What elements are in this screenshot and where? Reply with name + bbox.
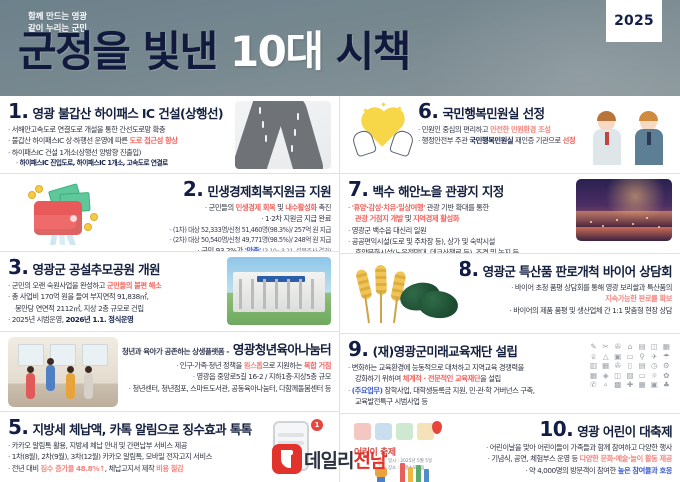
education-glyph-icon: ✚ xyxy=(624,381,635,389)
bullet-b: 변화하는 교육환경에 능동적으로 대처하고 지역교육 경쟁력을 xyxy=(348,362,586,373)
education-glyph-icon: ◈ xyxy=(600,372,611,380)
item-10-title: 영광 어린이 대축제 xyxy=(577,425,672,439)
bullet-b: 군민 93.2%가 '만족' (3.10~3.21. 설문조사 결과) xyxy=(116,245,331,252)
children-playroom-photo xyxy=(8,337,118,407)
festival-poster-title: 어린이 축제 xyxy=(354,445,396,458)
item-card-6: 6. 국민행복민원실 선정 민원인 중심의 편리하고 안전한 민원환경 조성행정… xyxy=(340,96,680,174)
education-glyph-icon: △ xyxy=(600,353,611,361)
item-3-text: 3. 영광군 공설추모공원 개원 군민의 오랜 숙원사업을 완성하고 군민들의 … xyxy=(8,257,227,326)
items-grid: 1. 영광 불갑산 하이패스 IC 건설(상행선) 서해안고속도로 연결도로 개… xyxy=(0,96,680,482)
item-7-title: 백수 해안노을 관광지 지정 xyxy=(373,185,504,199)
education-glyph-icon: ▥ xyxy=(588,362,599,370)
bullet-b: 기념식, 공연, 체험부스 운영 등 다양한 문화·예술·놀이 활동 제공 xyxy=(456,453,672,464)
bullet-sub: (2차) 대상 50,540명/신청 49,771명(98.5%)/ 248억 … xyxy=(116,235,331,245)
item-9-title-row: 9. (재)영광군미래교육재단 설립 xyxy=(348,339,586,359)
item-6-title: 국민행복민원실 선정 xyxy=(443,107,545,121)
memorial-park-building-photo xyxy=(227,257,331,325)
education-glyph-icon: ◫ xyxy=(612,372,623,380)
bullet-b: 군민들의 민생경제 회복 및 내수활성화 촉진 xyxy=(116,202,331,213)
heart-hands-illustration xyxy=(348,101,418,163)
item-1-bullets: 서해안고속도로 연결도로 개설을 통한 간선도로망 확충불갑산 하이패스IC 상… xyxy=(8,124,235,168)
bullet-b: 바이어의 제품 품평 및 생산업체 간 1:1 맞춤형 현장 상담 xyxy=(460,305,672,316)
bullet-b: 전년 대비 징수 증가율 48.8%↑, 체납고지서 제작 비용 절감 xyxy=(8,463,261,474)
bullet-b: '휴양·감성·치유·일상여행' 관광 기반 확대를 통한 xyxy=(348,202,576,213)
bullet-b: 2025년 시범운영, 2026년 1.1. 정식운영 xyxy=(8,314,227,325)
bullet-b: 인구·가족·청년 정책을 원스톱으로 지원하는 복합 거점 xyxy=(118,360,331,371)
item-5-text: 5. 지방세 체납액, 카톡 알림으로 징수효과 톡톡 카카오 알림톡 활용, … xyxy=(8,417,261,477)
education-icon-grid: ✎✂✇⌂▤◫▦♕△▣▭⚲✈☂▥▦✇▯▤◷⚙▦◈◫▨▭☼✿✆⌕▩✚▦▣♣ xyxy=(586,339,672,405)
highway-interchange-illustration xyxy=(235,101,331,169)
bullet-b: (주요업무) 장학사업, 대학생등록금 지원, 민·관·학 거버넌스 구축, xyxy=(348,385,586,396)
bullet-b: 어린이날을 맞아 어린이들이 가족들과 함께 참여하고 다양한 행사 xyxy=(456,442,672,453)
bullet-cont: 봉안당 연면적 2112㎡, 지상 2층 규모로 건립 xyxy=(8,303,227,314)
icon-grid: ✎✂✇⌂▤◫▦♕△▣▭⚲✈☂▥▦✇▯▤◷⚙▦◈◫▨▭☼✿✆⌕▩✚▦▣♣ xyxy=(588,343,672,389)
bullet-b: 서해안고속도로 연결도로 개설을 통한 간선도로망 확충 xyxy=(8,124,235,135)
item-card-8: 8. 영광군 특산품 판로개척 바이어 상담회 바이어 초청 품평 상담회를 통… xyxy=(340,254,680,334)
barley-and-laver-illustration xyxy=(348,259,460,329)
bullet-b: 약 4,000명의 방문객이 참여한 높은 참여율과 호응 xyxy=(456,465,672,476)
item-8-title: 영광군 특산품 판로개척 바이어 상담회 xyxy=(483,265,672,279)
child-figure xyxy=(374,459,388,482)
item-card-10: 어린이 축제 일시 : 2025년 5월 5일장소 : 영광스포티움 10. xyxy=(340,414,680,482)
education-glyph-icon: ✂ xyxy=(600,343,611,351)
item-2-number: 2. xyxy=(183,179,204,199)
item-4-title-row: 4. 청년과 육아가 공존하는 상생플랫폼 - 영광청년육아나눔터 xyxy=(118,337,331,357)
bullet-b: 불갑산 하이패스IC 상·하행선 운영에 따른 도로 접근성 향상 xyxy=(8,135,235,146)
education-glyph-icon: ▦ xyxy=(637,381,648,389)
item-6-bullets: 민원인 중심의 편리하고 안전한 민원환경 조성행정안전부 주관 국민행복민원실… xyxy=(418,124,588,147)
education-glyph-icon: ☂ xyxy=(661,353,672,361)
item-4-title: 영광청년육아나눔터 xyxy=(233,343,331,357)
title-part-1: 군정을 빛낸 xyxy=(18,27,217,76)
item-3-title: 영광군 공설추모공원 개원 xyxy=(33,263,160,277)
education-glyph-icon: ⌕ xyxy=(600,381,611,389)
title-part-2: 10대 xyxy=(230,27,323,76)
column-right: 6. 국민행복민원실 선정 민원인 중심의 편리하고 안전한 민원환경 조성행정… xyxy=(340,96,680,482)
item-1-number: 1. xyxy=(8,101,29,121)
item-7-bullets: '휴양·감성·치유·일상여행' 관광 기반 확대를 통한관광 거점지 개발 및 … xyxy=(348,202,576,254)
education-glyph-icon: ♣ xyxy=(661,381,672,389)
education-glyph-icon: ▤ xyxy=(637,362,648,370)
item-10-text: 10. 영광 어린이 대축제 어린이날을 맞아 어린이들이 가족들과 함께 참여… xyxy=(456,419,672,477)
education-glyph-icon: ▭ xyxy=(637,372,648,380)
education-glyph-icon: ▯ xyxy=(624,362,635,370)
item-10-number: 10. xyxy=(539,419,573,439)
item-8-bullets: 바이어 초청 품평 상담회를 통해 영광 보리쌀과 특산품의지속가능한 판로를 … xyxy=(460,282,672,316)
item-4-bullets: 인구·가족·청년 정책을 원스톱으로 지원하는 복합 거점영광읍 중앙로5길 1… xyxy=(118,360,331,394)
education-glyph-icon: ✎ xyxy=(588,343,599,351)
education-glyph-icon: ▦ xyxy=(588,372,599,380)
education-glyph-icon: ♕ xyxy=(588,353,599,361)
item-7-number: 7. xyxy=(348,179,369,199)
item-card-5: 5. 지방세 체납액, 카톡 알림으로 징수효과 톡톡 카카오 알림톡 활용, … xyxy=(0,412,339,482)
education-glyph-icon: ▩ xyxy=(612,381,623,389)
item-8-number: 8. xyxy=(458,259,479,279)
item-5-bullets: 카카오 알림톡 활용, 지방세 체납 안내 및 간편납부 서비스 제공1차(8월… xyxy=(8,440,261,474)
item-7-text: 7. 백수 해안노을 관광지 지정 '휴양·감성·치유·일상여행' 관광 기반 … xyxy=(348,179,576,248)
education-glyph-icon: ◷ xyxy=(649,362,660,370)
bullet-b: 민원인 중심의 편리하고 안전한 민원환경 조성 xyxy=(418,124,588,135)
childrens-festival-poster: 어린이 축제 일시 : 2025년 5월 5일장소 : 영광스포티움 xyxy=(348,419,456,482)
poster-header: 함께 만드는 영광 같이 누리는 군민 군정을 빛낸 10대 시책 2025 xyxy=(0,0,680,96)
item-card-1: 1. 영광 불갑산 하이패스 IC 건설(상행선) 서해안고속도로 연결도로 개… xyxy=(0,96,339,174)
item-9-title: (재)영광군미래교육재단 설립 xyxy=(373,345,518,359)
kakao-notification-phone-illustration: 1 xyxy=(261,417,331,475)
bullet-b: 하이패스IC 건설 1개소(상행선 양방향 진출입) xyxy=(8,147,235,158)
item-1-text: 1. 영광 불갑산 하이패스 IC 건설(상행선) 서해안고속도로 연결도로 개… xyxy=(8,101,235,168)
item-5-title-row: 5. 지방세 체납액, 카톡 알림으로 징수효과 톡톡 xyxy=(8,417,261,437)
education-glyph-icon: ▣ xyxy=(649,381,660,389)
item-9-bullets: 변화하는 교육환경에 능동적으로 대처하고 지역교육 경쟁력을강화하기 위하여 … xyxy=(348,362,586,407)
item-9-number: 9. xyxy=(348,339,369,359)
wallet-cash-illustration xyxy=(8,179,116,247)
bullet-b: 청년센터, 청년점포, 스마트도서관, 공동육아나눔터, 다함께돌봄센터 등 xyxy=(118,383,331,394)
education-glyph-icon: ✈ xyxy=(649,353,660,361)
item-6-number: 6. xyxy=(418,101,439,121)
bullet-b: 총 사업비 170억 원을 들여 부지면적 91,838㎡, xyxy=(8,291,227,302)
item-3-title-row: 3. 영광군 공설추모공원 개원 xyxy=(8,257,227,277)
bullet-cont: 강화하기 위하여 체계적 · 전문적인 교육재단을 설립 xyxy=(348,373,586,384)
bullet-b: 1·2차 지원금 지급 완료 xyxy=(116,213,331,224)
item-3-number: 3. xyxy=(8,257,29,277)
item-3-bullets: 군민의 오랜 숙원사업을 완성하고 군민들의 불편 해소총 사업비 170억 원… xyxy=(8,280,227,325)
notification-badge: 1 xyxy=(311,419,323,431)
item-8-title-row: 8. 영광군 특산품 판로개척 바이어 상담회 xyxy=(460,259,672,279)
bullet-cont: 관광 거점지 개발 및 지역경제 활성화 xyxy=(348,213,576,224)
education-glyph-icon: ⌂ xyxy=(624,343,635,351)
item-6-text: 6. 국민행복민원실 선정 민원인 중심의 편리하고 안전한 민원환경 조성행정… xyxy=(418,101,588,168)
public-officials-illustration xyxy=(588,101,672,165)
bullet-b: 영광읍 중앙로5길 16-2 / 지하1층·지상5층 규모 xyxy=(118,371,331,382)
education-glyph-icon: ⚲ xyxy=(637,353,648,361)
education-glyph-icon: ☼ xyxy=(649,372,660,380)
item-card-3: 3. 영광군 공설추모공원 개원 군민의 오랜 숙원사업을 완성하고 군민들의 … xyxy=(0,252,339,332)
item-6-title-row: 6. 국민행복민원실 선정 xyxy=(418,101,588,121)
bullet-sub: (1차) 대상 52,333명/신청 51,460명(98.3%)/ 257억 … xyxy=(116,225,331,235)
page-title: 군정을 빛낸 10대 시책 xyxy=(18,31,410,73)
education-glyph-icon: ▭ xyxy=(624,353,635,361)
item-10-title-row: 10. 영광 어린이 대축제 xyxy=(456,419,672,439)
item-9-text: 9. (재)영광군미래교육재단 설립 변화하는 교육환경에 능동적으로 대처하고… xyxy=(348,339,586,408)
bullet-b: 영광군 백수읍 대신리 일원 xyxy=(348,225,576,236)
poster-root: 함께 만드는 영광 같이 누리는 군민 군정을 빛낸 10대 시책 2025 1… xyxy=(0,0,680,482)
bullet-b: 공공편익시설(도로 및 주차장 등), 상가 및 숙박시설 xyxy=(348,236,576,247)
bullet-b: 카카오 알림톡 활용, 지방세 체납 안내 및 간편납부 서비스 제공 xyxy=(8,440,261,451)
education-glyph-icon: ✇ xyxy=(612,362,623,370)
bullet-b: 행정안전부 주관 국민행복민원실 재인증 기관으로 선정 xyxy=(418,135,588,146)
education-glyph-icon: ◫ xyxy=(649,343,660,351)
item-2-text: 2. 민생경제회복지원금 지원 군민들의 민생경제 회복 및 내수활성화 촉진1… xyxy=(116,179,331,246)
slogan-line-1: 함께 만드는 영광 xyxy=(28,11,87,23)
item-2-title-row: 2. 민생경제회복지원금 지원 xyxy=(116,179,331,199)
education-glyph-icon: ⚙ xyxy=(661,362,672,370)
bullet-b: 군민의 오랜 숙원사업을 완성하고 군민들의 불편 해소 xyxy=(8,280,227,291)
education-glyph-icon: ▤ xyxy=(637,343,648,351)
column-left: 1. 영광 불갑산 하이패스 IC 건설(상행선) 서해안고속도로 연결도로 개… xyxy=(0,96,340,482)
item-5-title: 지방세 체납액, 카톡 알림으로 징수효과 톡톡 xyxy=(33,423,252,437)
bullet-b: 바이어 초청 품평 상담회를 통해 영광 보리쌀과 특산품의 xyxy=(460,282,672,293)
item-8-text: 8. 영광군 특산품 판로개척 바이어 상담회 바이어 초청 품평 상담회를 통… xyxy=(460,259,672,328)
education-glyph-icon: ▨ xyxy=(624,372,635,380)
item-4-title-prefix: 청년과 육아가 공존하는 상생플랫폼 - xyxy=(122,346,229,357)
education-glyph-icon: ✆ xyxy=(588,381,599,389)
item-card-4: 4. 청년과 육아가 공존하는 상생플랫폼 - 영광청년육아나눔터 인구·가족·… xyxy=(0,332,339,412)
item-card-7: 7. 백수 해안노을 관광지 지정 '휴양·감성·치유·일상여행' 관광 기반 … xyxy=(340,174,680,254)
year-badge: 2025 xyxy=(606,0,662,42)
coastal-sunset-night-photo xyxy=(576,179,672,241)
item-card-2: 2. 민생경제회복지원금 지원 군민들의 민생경제 회복 및 내수활성화 촉진1… xyxy=(0,174,339,252)
item-2-title: 민생경제회복지원금 지원 xyxy=(207,185,331,199)
map-pin-icon xyxy=(432,421,442,434)
bullet-cont: 지속가능한 판로를 확보 xyxy=(460,293,672,304)
education-glyph-icon: ▦ xyxy=(600,362,611,370)
item-1-title-row: 1. 영광 불갑산 하이패스 IC 건설(상행선) xyxy=(8,101,235,121)
bullet-cont: 휴양문화시설(노을전망대, 데크산책로 등), 조경 및 녹지 등 xyxy=(348,247,576,254)
item-5-number: 5. xyxy=(8,417,29,437)
education-glyph-icon: ▦ xyxy=(661,343,672,351)
education-glyph-icon: ✇ xyxy=(612,343,623,351)
item-card-9: 9. (재)영광군미래교육재단 설립 변화하는 교육환경에 능동적으로 대처하고… xyxy=(340,334,680,414)
education-glyph-icon: ▣ xyxy=(612,353,623,361)
bullet-b: 1차(8월), 2차(9월), 3차(12월) 카카오 알림톡, 모바일 전자고… xyxy=(8,451,261,462)
education-glyph-icon: ✿ xyxy=(661,372,672,380)
bullet-sub: 하이패스IC 진입도로, 하이패스IC 1개소, 고속도로 연결로 xyxy=(8,158,235,168)
item-2-bullets: 군민들의 민생경제 회복 및 내수활성화 촉진1·2차 지원금 지급 완료(1차… xyxy=(116,202,331,252)
item-4-text: 4. 청년과 육아가 공존하는 상생플랫폼 - 영광청년육아나눔터 인구·가족·… xyxy=(118,337,331,406)
item-7-title-row: 7. 백수 해안노을 관광지 지정 xyxy=(348,179,576,199)
title-part-3: 시책 xyxy=(336,27,410,76)
item-1-title: 영광 불갑산 하이패스 IC 건설(상행선) xyxy=(33,107,223,121)
bullet-cont: 교육발전특구 시범사업 등 xyxy=(348,396,586,407)
item-10-bullets: 어린이날을 맞아 어린이들이 가족들과 함께 참여하고 다양한 행사기념식, 공… xyxy=(456,442,672,476)
